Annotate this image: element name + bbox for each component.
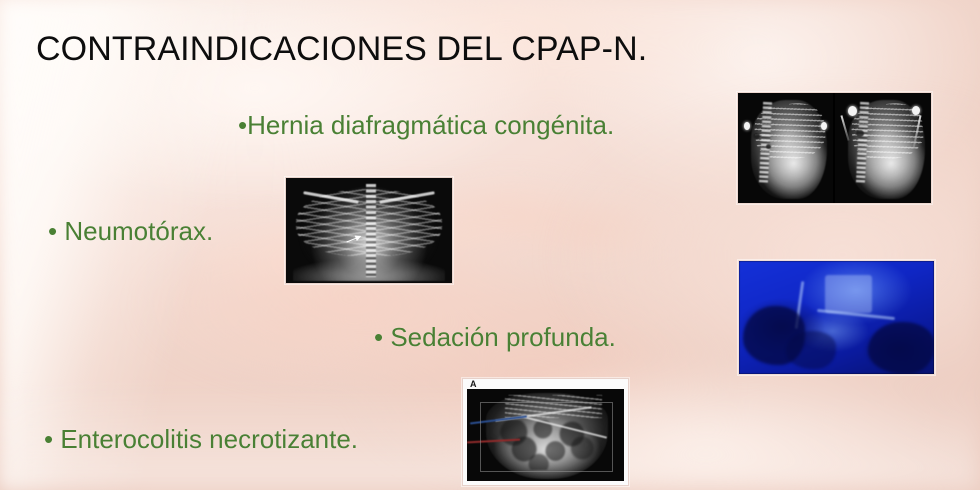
abdominal-xray-film [467, 389, 624, 481]
slide-title: CONTRAINDICACIONES DEL CPAP-N. [36, 30, 647, 69]
clinician-hand [868, 322, 934, 374]
xray-gas-bubble [753, 133, 760, 139]
chest-xray-image [285, 177, 453, 284]
neonate-limb [786, 331, 837, 369]
hernia-xray-left-film [738, 93, 833, 203]
bullet-hernia-diafragmatica: •Hernia diafragmática congénita. [238, 110, 614, 141]
nicu-sedation-image [738, 260, 935, 375]
bullet-neumotorax: • Neumotórax. [48, 216, 213, 247]
orientation-marker-a: A [470, 379, 477, 389]
abdominal-xray-image: A [462, 378, 629, 486]
ecg-lead [821, 122, 827, 130]
presentation-slide: CONTRAINDICACIONES DEL CPAP-N. •Hernia d… [0, 0, 980, 490]
hernia-xray-right-film [835, 93, 932, 203]
bullet-enterocolitis-necrotizante: • Enterocolitis necrotizante. [44, 424, 358, 455]
ecg-lead [744, 122, 750, 130]
collimation-border [480, 402, 614, 472]
chest-xray-inner [286, 178, 452, 283]
bullet-sedacion-profunda: • Sedación profunda. [374, 322, 616, 353]
ecg-lead [912, 106, 920, 115]
iv-bag [825, 275, 872, 313]
nicu-photo-inner [739, 261, 934, 374]
chest-spine [366, 184, 376, 276]
hernia-xray-image [737, 92, 932, 204]
